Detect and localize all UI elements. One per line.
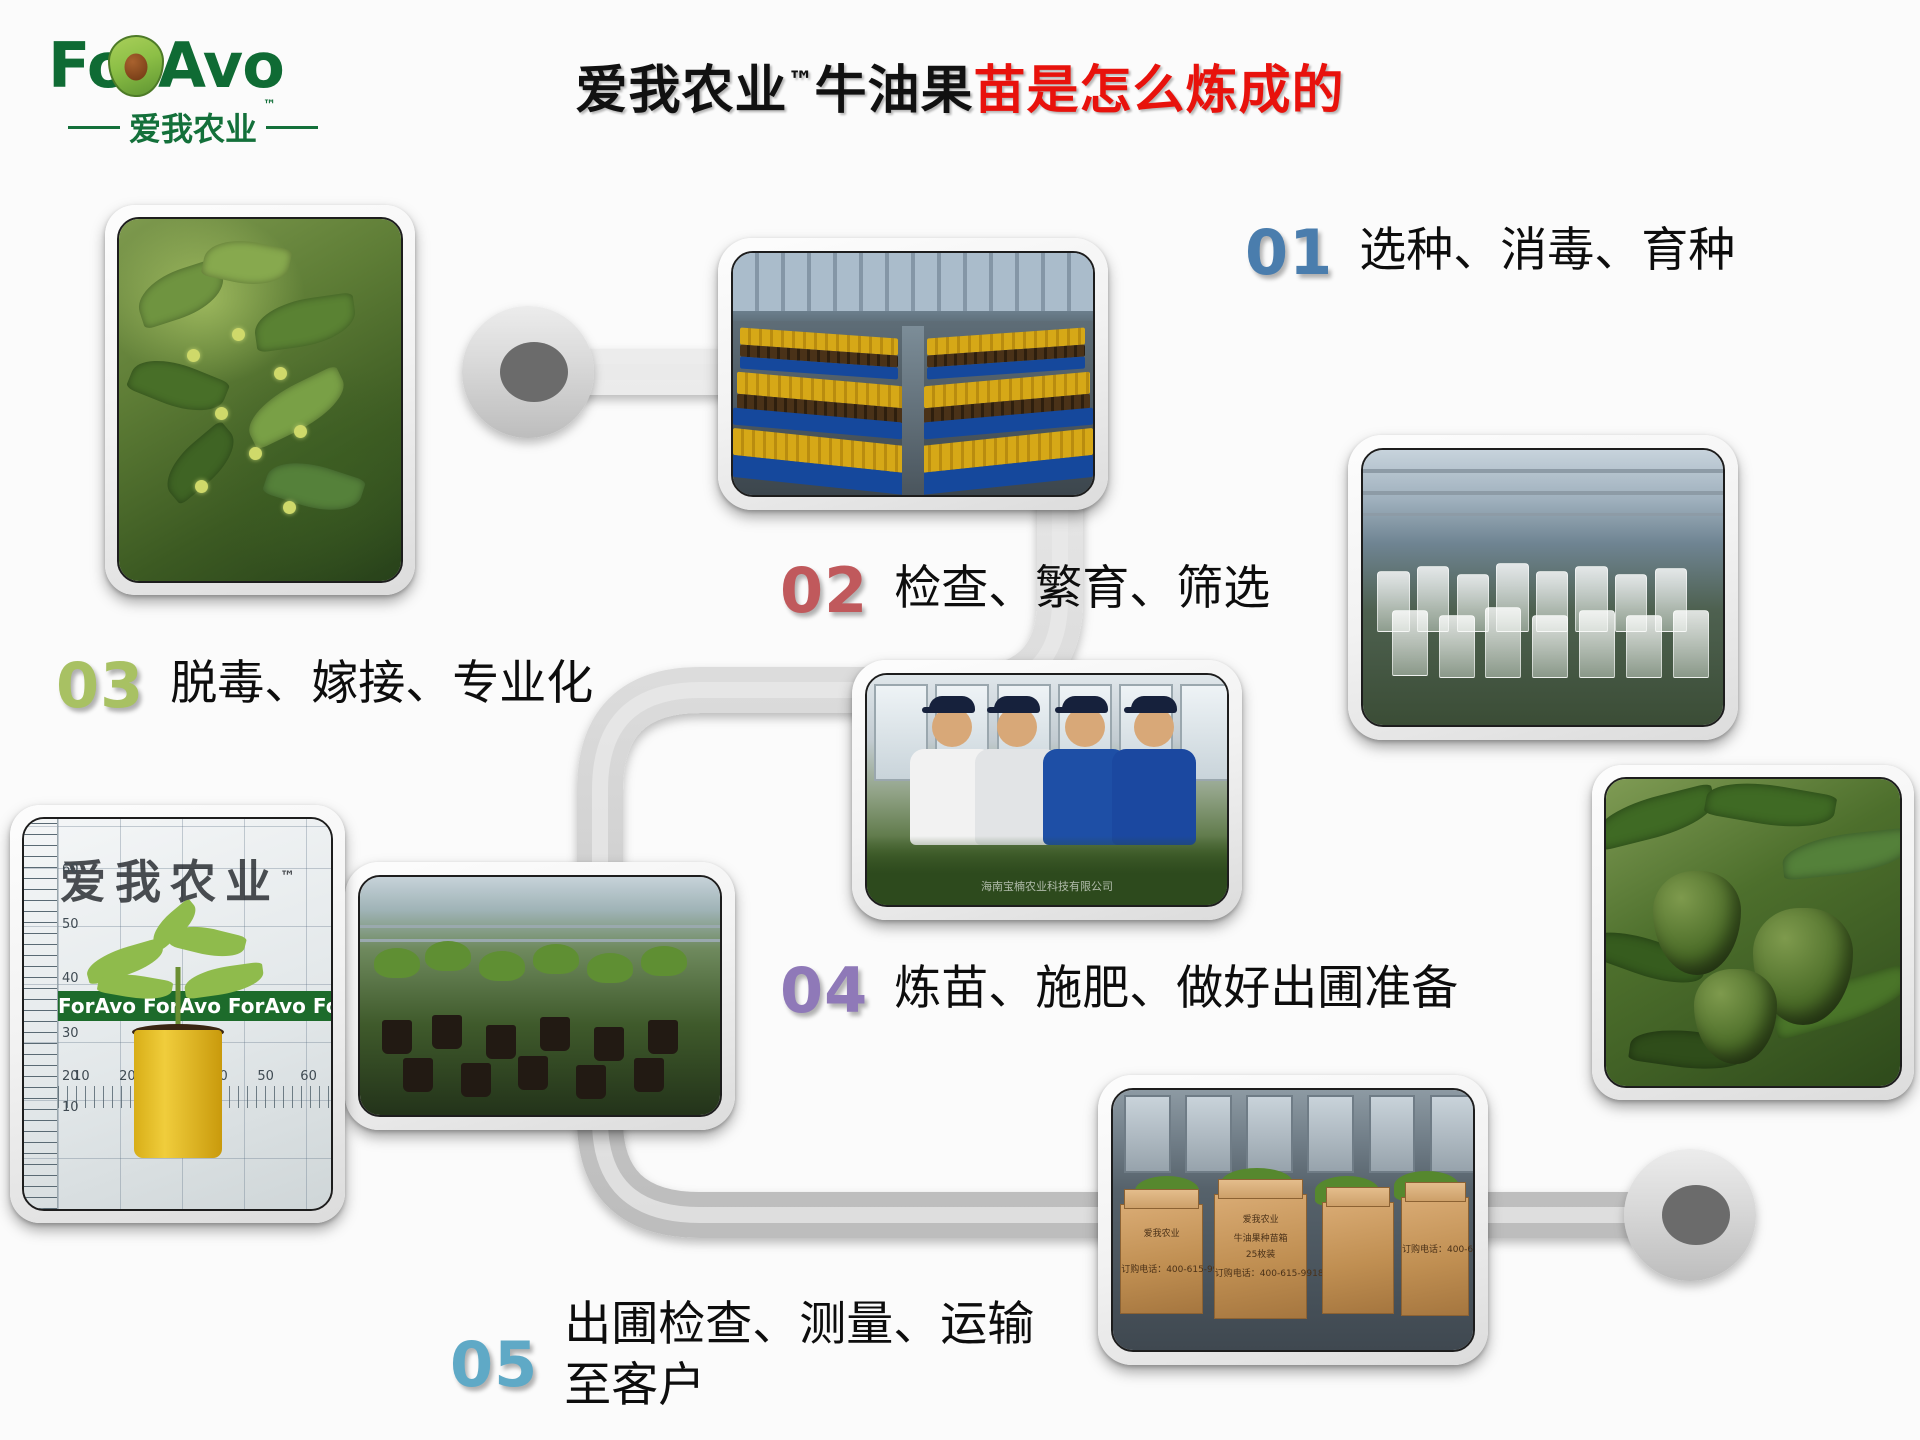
board-watermark: 爱我农业™ <box>60 846 295 912</box>
photo-poly-bagged-nursery-plants <box>1348 435 1738 740</box>
step-text-01: 选种、消毒、育种 <box>1359 222 1735 280</box>
step-text-04: 炼苗、施肥、做好出圃准备 <box>894 960 1458 1018</box>
step-text-05: 出圃检查、测量、运输 至客户 <box>564 1294 1034 1416</box>
measuring-board-artwork: 爱我农业™ 60 50 40 30 20 10 10 20 40 50 60 F… <box>24 819 331 1209</box>
step-number-03: 03 <box>56 655 144 717</box>
page-title-tm: ™ <box>787 67 814 97</box>
poly-bagged-plants-artwork <box>1363 450 1723 725</box>
photo-flowering-avocado-branch <box>105 205 415 595</box>
page-title: 爱我农业™牛油果苗是怎么炼成的 <box>0 48 1920 123</box>
flow-start-node <box>462 306 594 438</box>
avocado-fruit-artwork <box>1606 779 1900 1086</box>
step-number-01: 01 <box>1245 222 1333 284</box>
step-label-01: 01 选种、消毒、育种 <box>1245 222 1735 284</box>
germination-trays-artwork <box>733 253 1093 495</box>
photo-potted-seedling-rows <box>345 862 735 1130</box>
yellow-pot <box>134 1030 222 1158</box>
box-text-line1: 爱我农业 <box>1144 1229 1180 1239</box>
vertical-ruler <box>24 819 58 1209</box>
photo-seedling-measuring-board: 爱我农业™ 60 50 40 30 20 10 10 20 40 50 60 F… <box>10 805 345 1223</box>
page-title-black-2: 牛油果 <box>814 61 973 121</box>
step-text-05-line2: 至客户 <box>564 1358 705 1413</box>
potted-seedlings-artwork <box>360 877 720 1115</box>
logo-dash-right <box>266 126 318 129</box>
logo-dash-left <box>68 126 120 129</box>
page-title-red: 苗是怎么炼成的 <box>974 61 1345 121</box>
page-title-black-1: 爱我农业 <box>575 61 787 121</box>
step-label-04: 04 炼苗、施肥、做好出圃准备 <box>780 960 1458 1022</box>
shipping-boxes-artwork: 爱我农业 订购电话：400-615-9918 爱我农业 牛油果种苗箱 25枚装 <box>1113 1090 1473 1350</box>
step-label-03: 03 脱毒、嫁接、专业化 <box>56 655 593 717</box>
inspection-watermark: 海南宝楠农业科技有限公司 <box>981 878 1113 894</box>
photo-greenhouse-germination-trays <box>718 238 1108 510</box>
step-number-02: 02 <box>780 560 868 622</box>
step-text-05-line1: 出圃检查、测量、运输 <box>564 1297 1034 1352</box>
flow-end-node <box>1624 1149 1756 1281</box>
photo-boxing-and-shipping: 爱我农业 订购电话：400-615-9918 爱我农业 牛油果种苗箱 25枚装 <box>1098 1075 1488 1365</box>
step-label-02: 02 检查、繁育、筛选 <box>780 560 1270 622</box>
step-text-03: 脱毒、嫁接、专业化 <box>170 655 593 713</box>
staff-inspection-artwork: 海南宝楠农业科技有限公司 <box>867 675 1227 905</box>
photo-staff-inspecting-seedlings: 海南宝楠农业科技有限公司 <box>852 660 1242 920</box>
photo-avocado-fruit-on-tree <box>1592 765 1914 1100</box>
step-label-05: 05 出圃检查、测量、运输 至客户 <box>450 1300 1034 1416</box>
step-number-05: 05 <box>450 1334 538 1396</box>
step-text-02: 检查、繁育、筛选 <box>894 560 1270 618</box>
step-number-04: 04 <box>780 960 868 1022</box>
flowering-branch-artwork <box>119 219 401 581</box>
